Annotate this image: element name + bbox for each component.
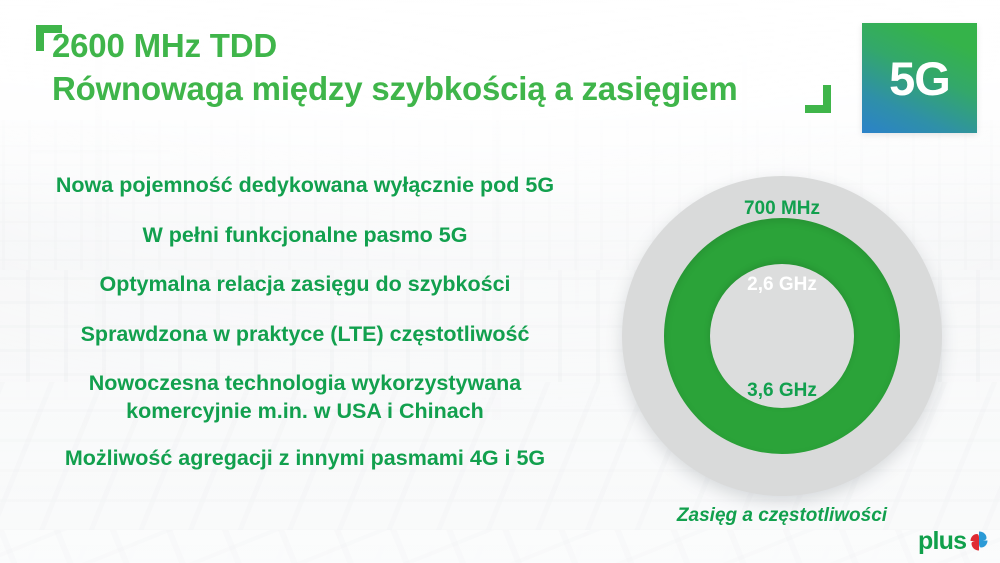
slide-header: 2600 MHz TDD Równowaga między szybkością… bbox=[0, 0, 1000, 140]
list-item: Optymalna relacja zasięgu do szybkości bbox=[99, 271, 510, 299]
slide-canvas: 2600 MHz TDD Równowaga między szybkością… bbox=[0, 0, 1000, 563]
list-item: Możliwość agregacji z innymi pasmami 4G … bbox=[65, 445, 545, 473]
list-item: Sprawdzona w praktyce (LTE) częstotliwoś… bbox=[81, 321, 530, 349]
page-title-line1: 2600 MHz TDD bbox=[52, 27, 277, 65]
feature-list: Nowa pojemność dedykowana wyłącznie pod … bbox=[0, 172, 610, 495]
diagram-caption: Zasięg a częstotliwości bbox=[622, 505, 942, 527]
list-item: W pełni funkcjonalne pasmo 5G bbox=[143, 222, 468, 250]
plus-brand-logo: plus bbox=[918, 527, 991, 555]
coverage-frequency-diagram: 700 MHz 2,6 GHz 3,6 GHz bbox=[622, 176, 942, 496]
list-item: Nowoczesna technologia wykorzystywana ko… bbox=[89, 370, 522, 425]
plus-wordmark: plus bbox=[918, 529, 966, 554]
badge-5g: 5G bbox=[862, 23, 977, 133]
ring-label-2600mhz: 2,6 GHz bbox=[622, 274, 942, 296]
plus-pinwheel-icon bbox=[967, 529, 991, 553]
badge-5g-label: 5G bbox=[889, 55, 950, 102]
ring-label-3600mhz: 3,6 GHz bbox=[622, 380, 942, 402]
ring-label-700mhz: 700 MHz bbox=[622, 198, 942, 220]
bracket-bottom-right-icon bbox=[805, 85, 831, 113]
list-item: Nowa pojemność dedykowana wyłącznie pod … bbox=[56, 172, 554, 200]
page-title-line2: Równowaga między szybkością a zasięgiem bbox=[52, 70, 737, 108]
